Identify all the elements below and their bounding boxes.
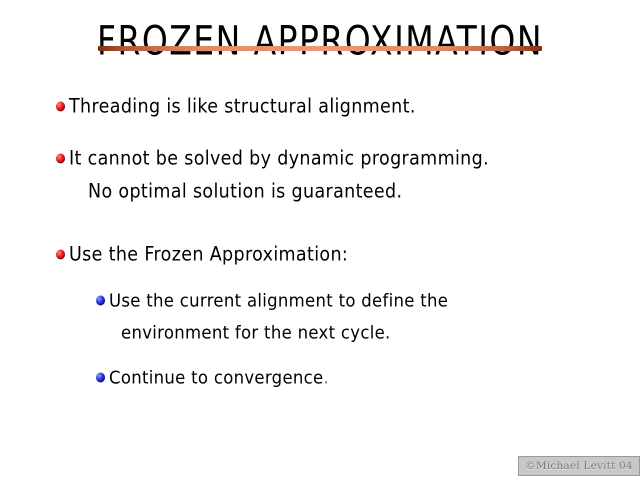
list-item: Continue to convergence. (96, 366, 640, 389)
list-item: Use the current alignment to define the (96, 289, 640, 312)
list-item: It cannot be solved by dynamic programmi… (56, 147, 640, 171)
accent-period: . (324, 367, 330, 388)
list-item-continuation: No optimal solution is guaranteed. (88, 180, 640, 204)
list-item-label: It cannot be solved by dynamic programmi… (69, 148, 489, 170)
bullet-dot-icon (56, 250, 65, 260)
page-title: FROZEN APPROXIMATION (10, 18, 631, 65)
list-item-label: Use the Frozen Approximation: (69, 244, 348, 266)
bullet-list: Threading is like structural alignment. … (0, 96, 640, 388)
bullet-dot-icon (96, 373, 105, 383)
list-item-label: Threading is like structural alignment. (69, 96, 416, 118)
copyright-watermark-label: ©Michael Levitt 04 (525, 460, 633, 472)
title-underline-rule (98, 46, 542, 51)
title-block: FROZEN APPROXIMATION (0, 18, 640, 58)
list-item-label: Continue to convergence (109, 367, 324, 388)
spacer (0, 118, 640, 148)
spacer (0, 343, 640, 367)
spacer (0, 266, 640, 290)
spacer (0, 203, 640, 233)
list-item-label: Use the current alignment to define the (109, 290, 448, 311)
bullet-dot-icon (96, 296, 105, 306)
bullet-dot-icon (56, 102, 65, 112)
slide-canvas: FROZEN APPROXIMATION Threading is like s… (0, 0, 640, 480)
bullet-dot-icon (56, 154, 65, 164)
list-item-label: environment for the next cycle. (121, 322, 391, 343)
copyright-watermark: ©Michael Levitt 04 (518, 456, 640, 476)
list-item: Use the Frozen Approximation: (56, 243, 640, 267)
list-item: Threading is like structural alignment. (56, 95, 640, 119)
list-item-continuation: environment for the next cycle. (121, 321, 640, 344)
list-item-label: No optimal solution is guaranteed. (88, 181, 402, 203)
